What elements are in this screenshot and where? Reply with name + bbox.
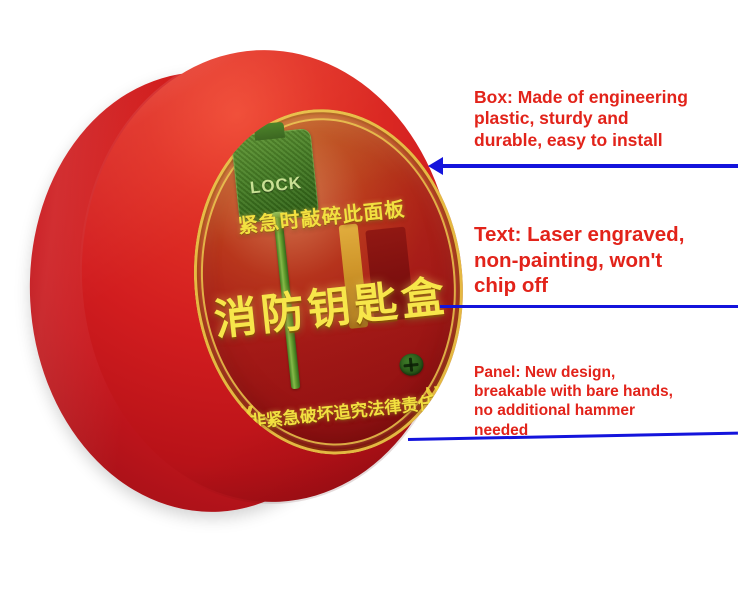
image-canvas: LOCK 紧急时敲碎此面板 消防钥匙盒 非紧急破坏追究法律责任 Box: Mad… <box>0 0 750 590</box>
annotation-panel-line-3: no additional hammer <box>474 401 742 420</box>
annotation-panel-line-2: breakable with bare hands, <box>474 382 742 401</box>
annotation-box-line-2: plastic, sturdy and <box>474 108 742 129</box>
panel-top-text: 紧急时敲碎此面板 <box>187 187 457 244</box>
key-tag-notch <box>254 122 286 141</box>
annotation-box-line-3: durable, easy to install <box>474 130 742 151</box>
panel-screw <box>398 352 424 376</box>
annotation-text-line-3: chip off <box>474 273 742 299</box>
panel-bottom-text: 非紧急破坏追究法律责任 <box>207 384 476 437</box>
key-tag-label: LOCK <box>235 172 317 200</box>
annotation-text-line-1: Text: Laser engraved, <box>474 222 742 248</box>
panel-title-text: 消防钥匙盒 <box>194 260 467 350</box>
break-glass-panel: LOCK 紧急时敲碎此面板 消防钥匙盒 非紧急破坏追究法律责任 <box>177 96 480 468</box>
annotation-text: Text: Laser engraved, non-painting, won'… <box>474 222 742 299</box>
annotation-box-line-1: Box: Made of engineering <box>474 87 742 108</box>
fire-key-box-product: LOCK 紧急时敲碎此面板 消防钥匙盒 非紧急破坏追究法律责任 <box>22 42 452 512</box>
annotation-panel-line-1: Panel: New design, <box>474 363 742 382</box>
leader-line-box <box>440 164 738 168</box>
annotation-text-line-2: non-painting, won't <box>474 248 742 274</box>
leader-line-text <box>440 305 738 308</box>
annotation-box: Box: Made of engineering plastic, sturdy… <box>474 87 742 151</box>
annotation-panel: Panel: New design, breakable with bare h… <box>474 363 742 440</box>
leader-arrow-box-icon <box>428 157 443 175</box>
